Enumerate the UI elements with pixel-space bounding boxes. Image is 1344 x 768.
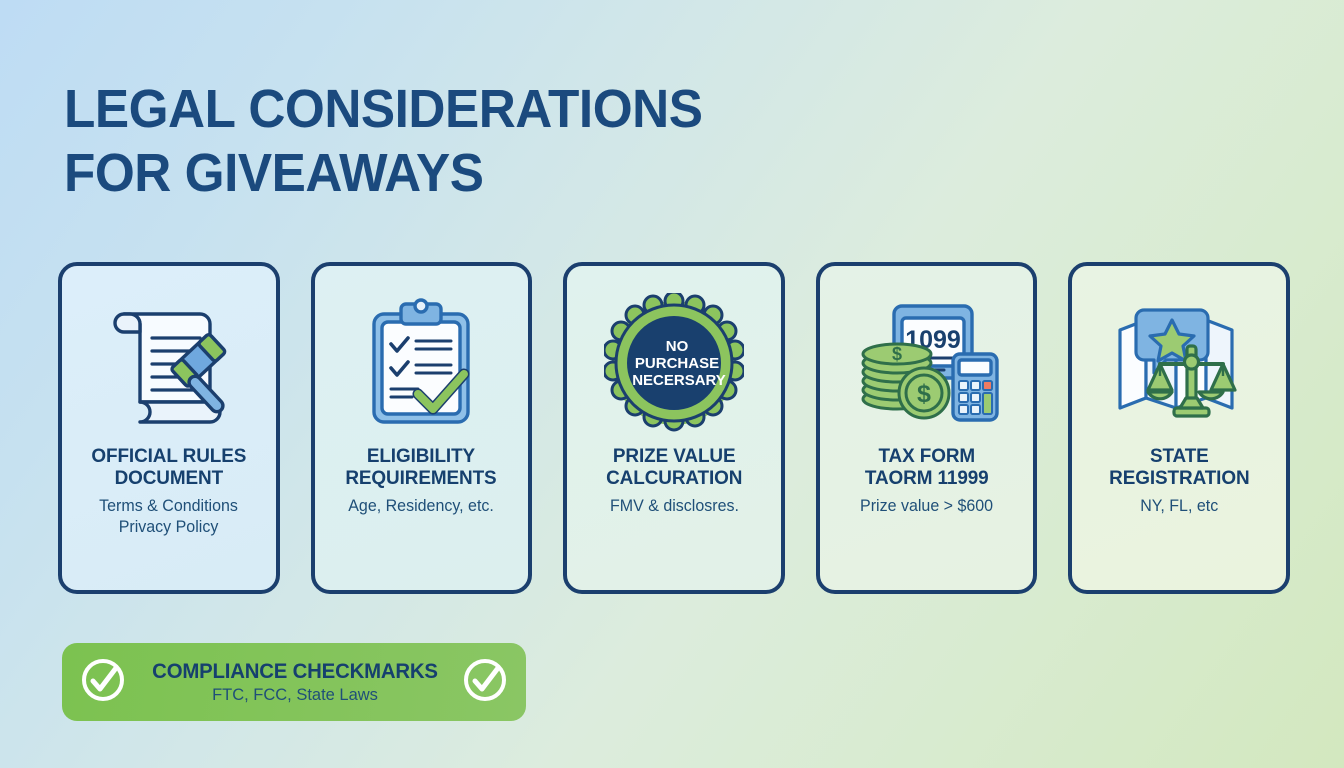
card-title-line-2: Document [115, 467, 224, 489]
card-title-line-2: Taorm 11999 [865, 467, 989, 489]
card-title-line-1: Eligibility [367, 445, 475, 467]
legal-considerations-card-row: Official Rules Document Terms & Conditio… [58, 262, 1290, 594]
card-title: Official Rules Document [91, 446, 246, 490]
page-title-line-2: for Giveaways [64, 142, 843, 206]
card-tax-form[interactable]: 1099 $ $ [816, 262, 1038, 594]
card-title-line-1: Prize Value [613, 445, 736, 467]
circle-check-icon-left [78, 655, 128, 710]
card-title-line-2: Calcuration [606, 467, 742, 489]
card-subtitle-line-1: FMV & disclosres. [609, 497, 738, 515]
card-subtitle-line-2: Privacy Policy [119, 518, 219, 536]
card-title: Tax Form Taorm 11999 [865, 446, 989, 490]
card-title-line-2: Requirements [346, 467, 497, 489]
card-subtitle: FMV & disclosres. [609, 496, 738, 517]
circle-check-icon-right [460, 655, 510, 710]
card-eligibility-requirements[interactable]: Eligibility Requirements Age, Residency,… [311, 262, 533, 594]
card-subtitle-line-1: NY, FL, etc [1140, 497, 1218, 515]
card-official-rules-document[interactable]: Official Rules Document Terms & Conditio… [58, 262, 280, 594]
svg-text:$: $ [917, 380, 931, 408]
card-title-line-2: Registration [1109, 467, 1249, 489]
scroll-gavel-icon [94, 288, 244, 438]
card-title-line-1: Tax Form [878, 445, 975, 467]
svg-text:$: $ [892, 344, 902, 364]
card-title: Prize Value Calcuration [606, 446, 742, 490]
map-scales-icon [1104, 288, 1254, 438]
card-subtitle: NY, FL, etc [1140, 496, 1218, 517]
card-prize-value-calculation[interactable]: NO PURCHASE NECERSARY Prize Value Calcur… [563, 262, 785, 594]
coins-1099-calculator-icon: 1099 $ $ [852, 288, 1002, 438]
card-title-line-1: State [1150, 445, 1209, 467]
compliance-banner[interactable]: Compliance Checkmarks FTC, FCC, State La… [62, 643, 526, 721]
card-state-registration[interactable]: State Registration NY, FL, etc [1068, 262, 1290, 594]
card-subtitle: Terms & Conditions Privacy Policy [99, 496, 238, 539]
compliance-banner-title: Compliance Checkmarks [147, 660, 444, 683]
page-title-line-1: Legal Considerations [64, 78, 843, 142]
badge-line-3: NECERSARY [632, 372, 726, 389]
card-title: State Registration [1109, 446, 1249, 490]
compliance-banner-text: Compliance Checkmarks FTC, FCC, State La… [140, 660, 448, 705]
card-subtitle: Age, Residency, etc. [349, 496, 495, 517]
badge-line-1: NO [666, 338, 689, 355]
compliance-banner-subtitle: FTC, FCC, State Laws [147, 685, 444, 705]
card-subtitle-line-1: Age, Residency, etc. [349, 497, 495, 515]
card-subtitle-line-1: Terms & Conditions [99, 497, 238, 515]
card-subtitle: Prize value > $600 [860, 496, 993, 517]
card-title: Eligibility Requirements [346, 446, 497, 490]
clipboard-checklist-icon [356, 288, 486, 438]
card-title-line-1: Official Rules [91, 445, 246, 467]
page-title: Legal Considerations for Giveaways [64, 78, 843, 205]
no-purchase-necessary-badge-icon: NO PURCHASE NECERSARY [604, 288, 744, 438]
badge-line-2: PURCHASE [635, 355, 719, 372]
card-subtitle-line-1: Prize value > $600 [860, 497, 993, 515]
